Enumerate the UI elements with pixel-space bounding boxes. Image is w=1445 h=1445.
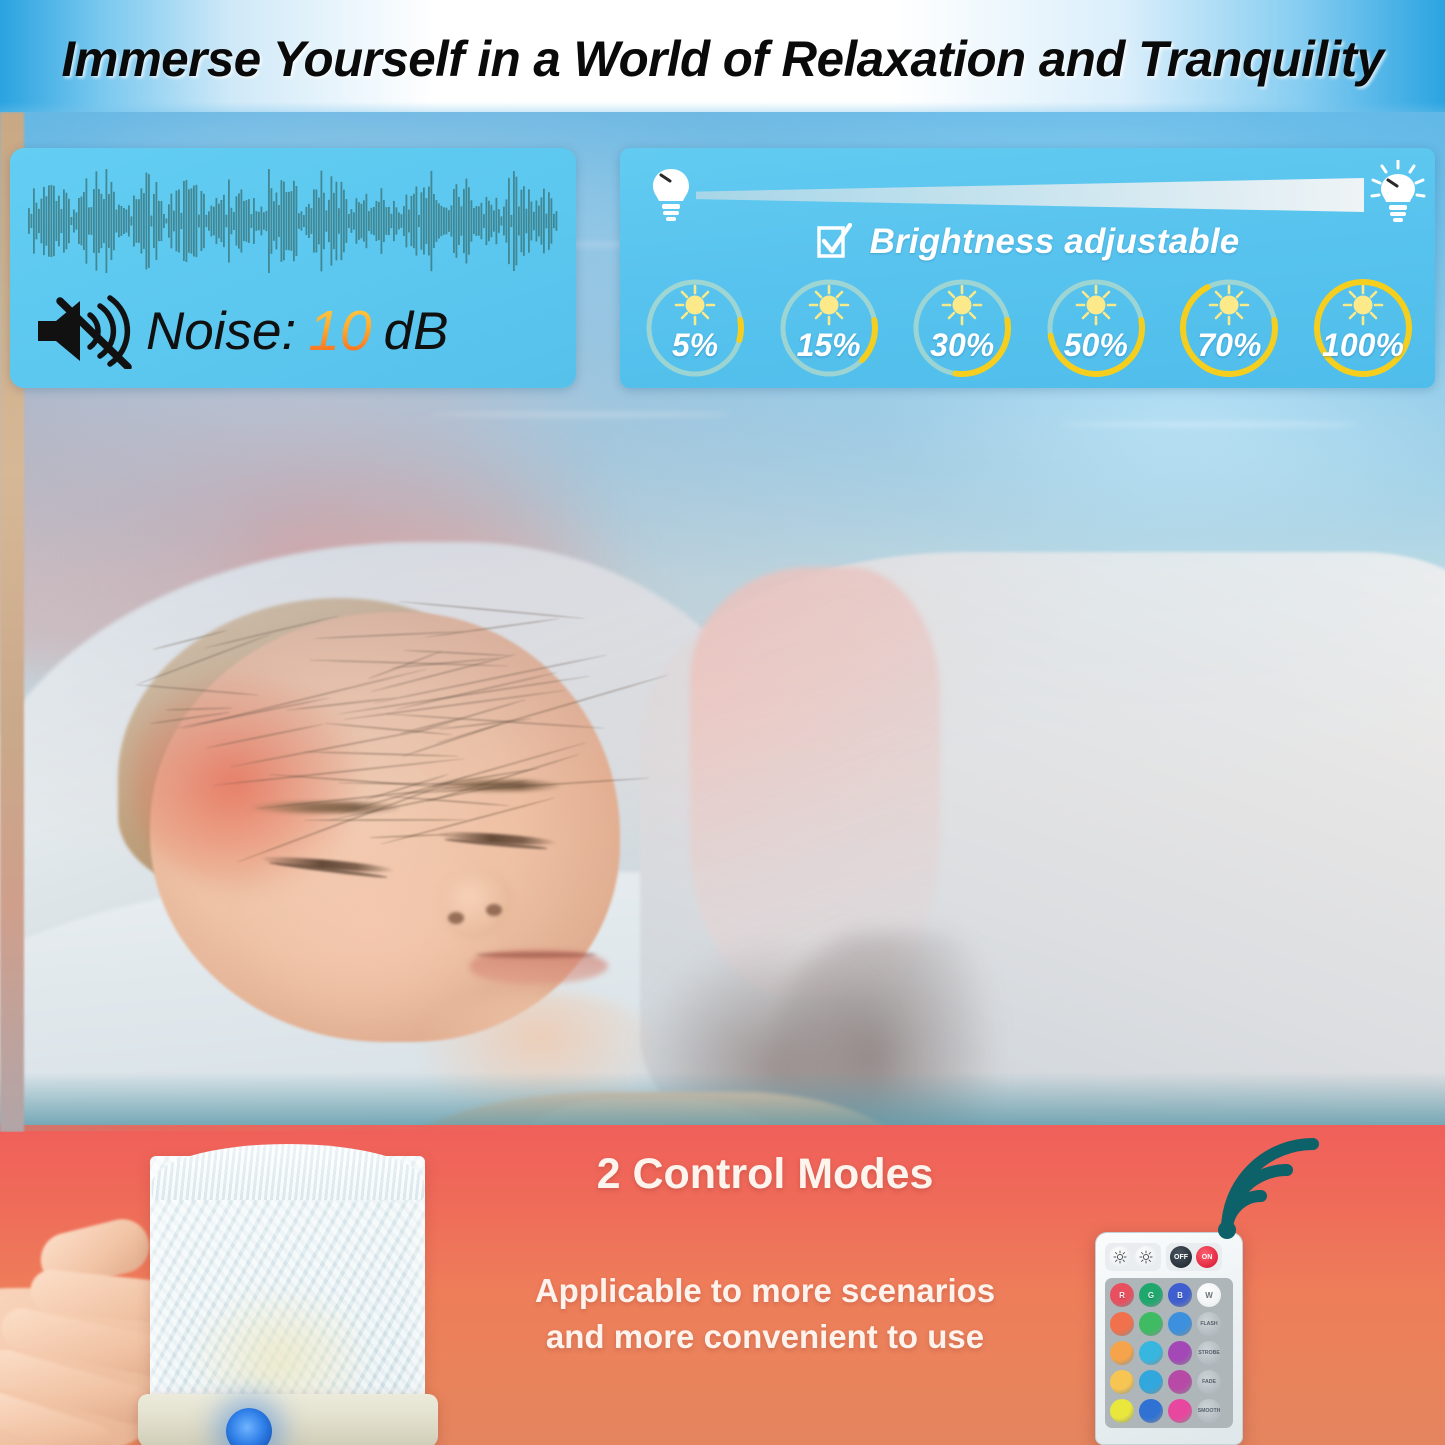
sun-icon: [1341, 283, 1385, 327]
brightness-level-label: 100%: [1302, 327, 1424, 364]
control-modes-subtitle: Applicable to more scenarios and more co…: [460, 1268, 1070, 1359]
remote-color-button-2-2[interactable]: [1168, 1341, 1192, 1365]
brightness-level-15[interactable]: 15%: [768, 275, 890, 381]
panel-accent-line: [0, 1125, 1445, 1131]
subtitle-line-2: and more convenient to use: [460, 1314, 1070, 1360]
brightness-slider[interactable]: [634, 160, 1421, 222]
brightness-level-label: 15%: [768, 327, 890, 364]
remote-mode-fade-button[interactable]: FADE: [1197, 1370, 1221, 1394]
remote-color-g-button[interactable]: G: [1139, 1283, 1163, 1307]
wireless-signal-icon: [1213, 1136, 1321, 1246]
brightness-label: Brightness adjustable: [870, 222, 1240, 262]
lamp-cube-top: [152, 1144, 424, 1200]
remote-button-row: RGBW: [1110, 1283, 1228, 1307]
brightness-level-70[interactable]: 70%: [1168, 275, 1290, 381]
noise-unit: dB: [384, 301, 449, 362]
brightness-level-30[interactable]: 30%: [901, 275, 1023, 381]
remote-button-row: FADE: [1110, 1370, 1228, 1394]
brightness-level-label: 50%: [1035, 327, 1157, 364]
brightness-feature-row: Brightness adjustable: [620, 222, 1435, 262]
remote-top-row: OFF ON: [1105, 1243, 1233, 1271]
sun-icon: [673, 283, 717, 327]
remote-on-button[interactable]: ON: [1196, 1246, 1218, 1268]
lamp-inner-glow: [190, 1288, 370, 1408]
brightness-level-5[interactable]: 5%: [634, 275, 756, 381]
remote-color-button-1-0[interactable]: [1110, 1312, 1134, 1336]
remote-button-row: STROBE: [1110, 1341, 1228, 1365]
remote-color-button-3-2[interactable]: [1168, 1370, 1192, 1394]
water-ripple: [430, 412, 730, 417]
remote-brightness-up-icon[interactable]: [1109, 1246, 1131, 1268]
control-modes-title: 2 Control Modes: [505, 1150, 1025, 1199]
remote-color-button-1-2[interactable]: [1168, 1312, 1192, 1336]
remote-color-w-button[interactable]: W: [1197, 1283, 1221, 1307]
sun-icon: [807, 283, 851, 327]
remote-color-button-4-1[interactable]: [1139, 1399, 1163, 1423]
remote-color-button-3-0[interactable]: [1110, 1370, 1134, 1394]
remote-color-r-button[interactable]: R: [1110, 1283, 1134, 1307]
brightness-level-label: 70%: [1168, 327, 1290, 364]
remote-color-b-button[interactable]: B: [1168, 1283, 1192, 1307]
sun-icon: [1207, 283, 1251, 327]
remote-color-button-1-1[interactable]: [1139, 1312, 1163, 1336]
brightness-level-label: 5%: [634, 327, 756, 364]
child-nostril: [486, 904, 502, 916]
remote-brightness-pad: [1105, 1243, 1161, 1271]
stage-bottom-fade: [0, 1072, 1445, 1132]
water-ripple: [1060, 422, 1360, 427]
brightness-level-label: 30%: [901, 327, 1023, 364]
brightness-level-100[interactable]: 100%: [1302, 275, 1424, 381]
bulb-dim-icon: [648, 166, 694, 222]
remote-mode-flash-button[interactable]: FLASH: [1197, 1312, 1221, 1336]
remote-color-button-4-0[interactable]: [1110, 1399, 1134, 1423]
brightness-panel: Brightness adjustable 5%: [620, 148, 1435, 388]
sun-icon: [1074, 283, 1118, 327]
crystal-cube-lamp: [130, 1138, 460, 1445]
audio-waveform-icon: [28, 166, 558, 276]
brightness-levels: 5% 15%: [634, 274, 1424, 382]
sun-icon: [940, 283, 984, 327]
noise-label: Noise:: [146, 305, 296, 358]
remote-color-button-2-0[interactable]: [1110, 1341, 1134, 1365]
subtitle-line-1: Applicable to more scenarios: [460, 1268, 1070, 1314]
remote-mode-strobe-button[interactable]: STROBE: [1197, 1341, 1221, 1365]
remote-power-pad: OFF ON: [1166, 1243, 1222, 1271]
noise-value: 10: [302, 298, 377, 364]
product-marketing-image: Immerse Yourself in a World of Relaxatio…: [0, 0, 1445, 1445]
remote-button-row: SMOOTH: [1110, 1399, 1228, 1423]
remote-color-button-3-1[interactable]: [1139, 1370, 1163, 1394]
checked-checkbox-icon: [816, 223, 852, 261]
rgb-remote-control[interactable]: OFF ON RGBWFLASHSTROBEFADESMOOTH: [1095, 1232, 1243, 1445]
page-title: Immerse Yourself in a World of Relaxatio…: [11, 30, 1434, 88]
noise-panel: Noise: 10 dB: [10, 148, 576, 388]
child-nostril: [448, 912, 464, 924]
remote-mode-smooth-button[interactable]: SMOOTH: [1197, 1399, 1221, 1423]
remote-color-button-2-1[interactable]: [1139, 1341, 1163, 1365]
lamp-base: [138, 1394, 438, 1445]
brightness-level-50[interactable]: 50%: [1035, 275, 1157, 381]
slider-track[interactable]: [696, 178, 1364, 212]
header-banner: Immerse Yourself in a World of Relaxatio…: [0, 0, 1445, 128]
remote-button-grid: RGBWFLASHSTROBEFADESMOOTH: [1105, 1278, 1233, 1428]
mute-speaker-icon: [32, 293, 140, 369]
bulb-bright-icon: [1370, 160, 1426, 226]
noise-readout: Noise: 10 dB: [32, 288, 562, 374]
remote-off-button[interactable]: OFF: [1170, 1246, 1192, 1268]
remote-brightness-down-icon[interactable]: [1135, 1246, 1157, 1268]
remote-button-row: FLASH: [1110, 1312, 1228, 1336]
child-lip-line: [476, 952, 596, 958]
remote-color-button-4-2[interactable]: [1168, 1399, 1192, 1423]
